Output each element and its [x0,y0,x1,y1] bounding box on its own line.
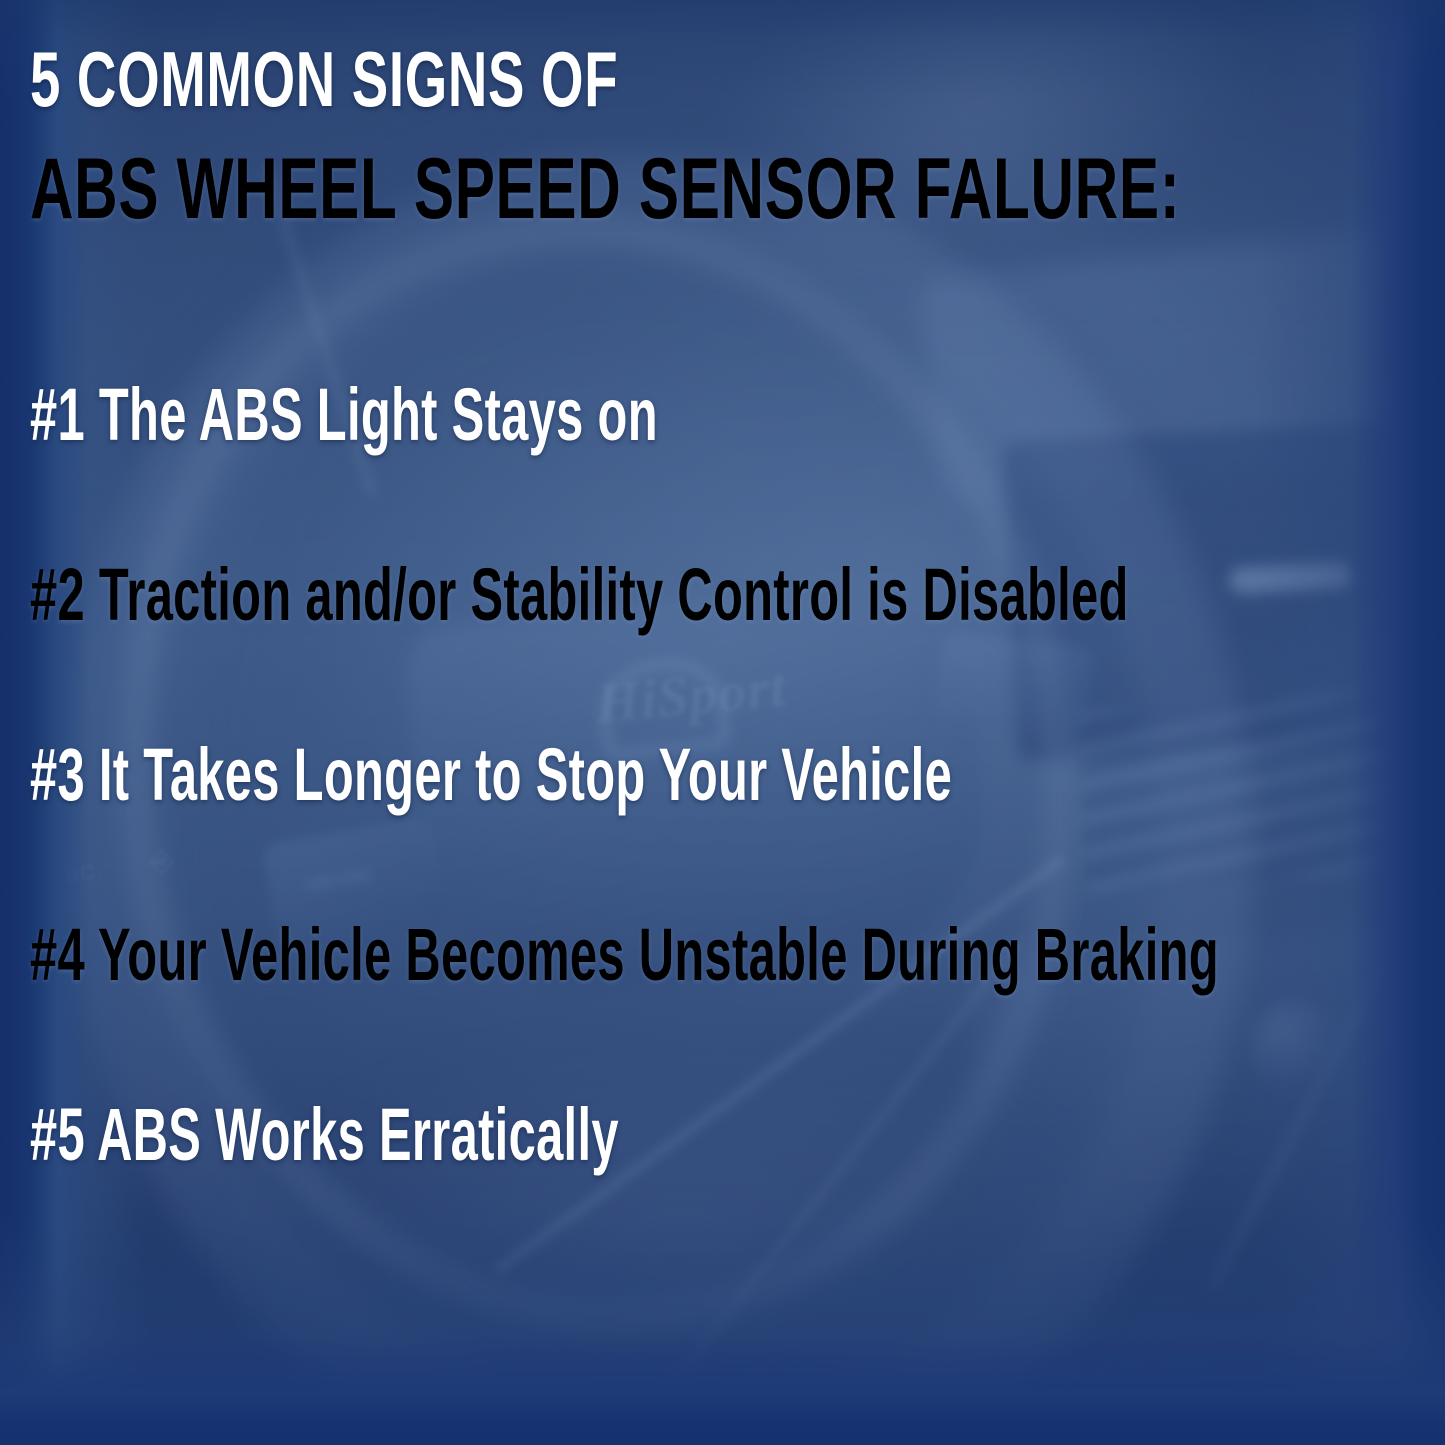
list-item-1: #1 The ABS Light Stays on [30,378,1219,558]
signs-list: #1 The ABS Light Stays on #2 Traction an… [30,378,1445,1278]
list-item-3: #3 It Takes Longer to Stop Your Vehicle [30,738,1219,918]
title-line-1: 5 COMMON SIGNS OF [30,40,1180,118]
list-item-5: #5 ABS Works Erratically [30,1098,1219,1278]
title-line-2: ABS WHEEL SPEED SENSOR FALURE: [30,146,1180,232]
infographic-poster: HiSport ABS DSC ▷ BC. ⎆ 5 COMMON SIGNS O… [0,0,1445,1445]
text-overlay: 5 COMMON SIGNS OF ABS WHEEL SPEED SENSOR… [0,0,1445,1445]
list-item-4: #4 Your Vehicle Becomes Unstable During … [30,918,1219,1098]
poster-title: 5 COMMON SIGNS OF ABS WHEEL SPEED SENSOR… [30,40,1445,232]
list-item-2: #2 Traction and/or Stability Control is … [30,558,1219,738]
